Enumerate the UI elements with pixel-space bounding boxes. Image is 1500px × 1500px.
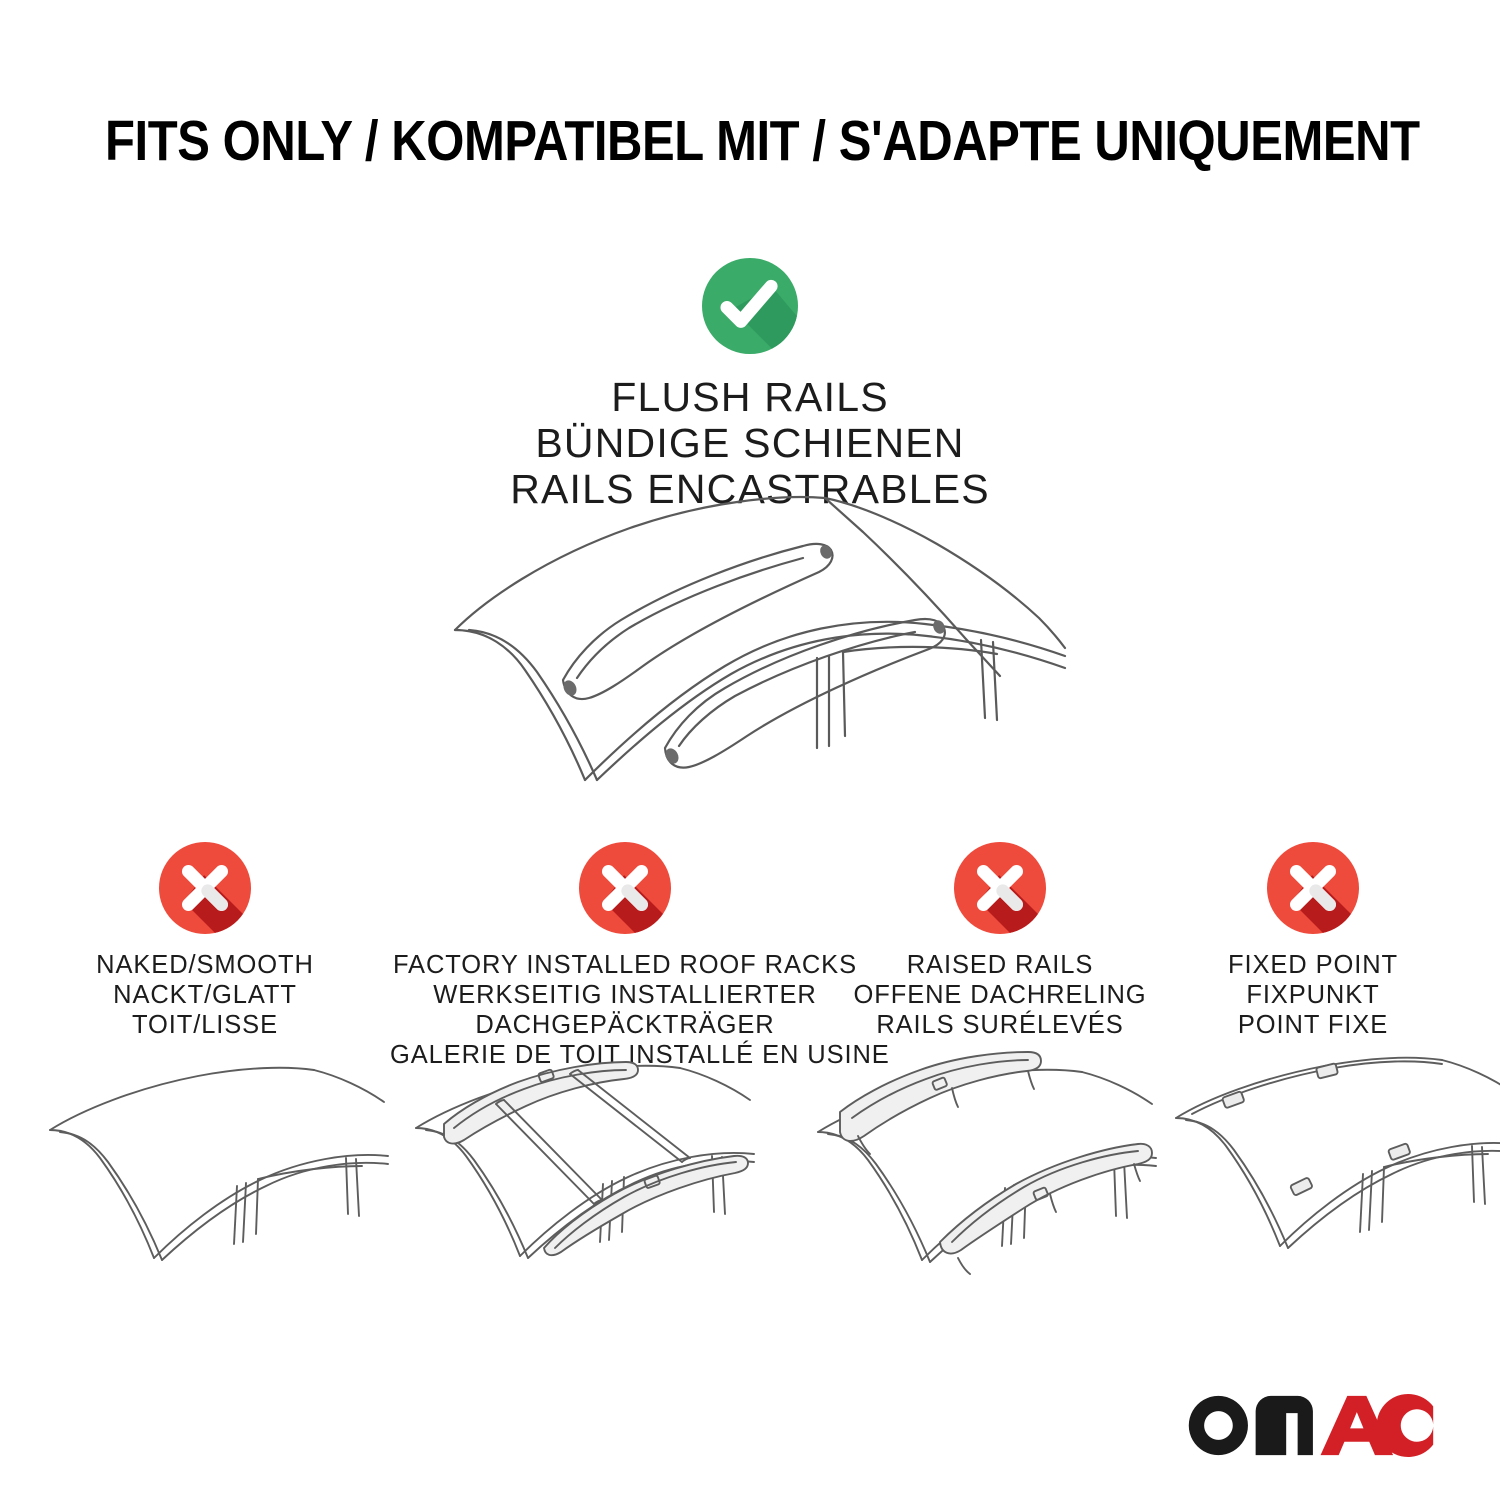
compatible-section: FLUSH RAILS BÜNDIGE SCHIENEN RAILS ENCAS… bbox=[0, 258, 1500, 513]
label-de: OFFENE DACHRELING bbox=[838, 980, 1162, 1010]
incompatible-section: NAKED/SMOOTH NACKT/GLATT TOIT/LISSE bbox=[0, 842, 1500, 1072]
label-de: NACKT/GLATT bbox=[35, 980, 375, 1010]
car-roof-naked-smooth-illustration bbox=[32, 1052, 404, 1342]
label-de: FIXPUNKT bbox=[1172, 980, 1454, 1010]
check-circle-icon bbox=[702, 258, 798, 354]
compatible-label-de: BÜNDIGE SCHIENEN bbox=[0, 421, 1500, 467]
compatible-label-en: FLUSH RAILS bbox=[0, 375, 1500, 421]
car-roof-raised-rails-illustration bbox=[800, 1052, 1172, 1342]
incompatible-label: FIXED POINT FIXPUNKT POINT FIXE bbox=[1172, 950, 1454, 1040]
page-title: FITS ONLY / KOMPATIBEL MIT / S'ADAPTE UN… bbox=[105, 108, 1395, 174]
x-circle-icon bbox=[159, 842, 251, 934]
incompatible-item-raised-rails: RAISED RAILS OFFENE DACHRELING RAILS SUR… bbox=[838, 842, 1162, 1040]
car-roof-fixed-point-illustration bbox=[1162, 1052, 1500, 1342]
label-de: WERKSEITIG INSTALLIERTER bbox=[390, 980, 860, 1010]
x-circle-icon bbox=[579, 842, 671, 934]
label-en: FACTORY INSTALLED ROOF RACKS bbox=[390, 950, 860, 980]
incompatible-item-naked-smooth: NAKED/SMOOTH NACKT/GLATT TOIT/LISSE bbox=[35, 842, 375, 1040]
logo-letter-o bbox=[1189, 1395, 1248, 1454]
incompatible-item-fixed-point: FIXED POINT FIXPUNKT POINT FIXE bbox=[1172, 842, 1454, 1040]
label-fr: POINT FIXE bbox=[1172, 1010, 1454, 1040]
car-roof-flush-rails-illustration bbox=[425, 480, 1085, 790]
logo-letter-m bbox=[1256, 1395, 1313, 1454]
x-circle-icon bbox=[1267, 842, 1359, 934]
omac-logo bbox=[1186, 1394, 1436, 1456]
label-en: NAKED/SMOOTH bbox=[35, 950, 375, 980]
incompatible-illustrations-row bbox=[0, 1052, 1500, 1342]
x-circle-icon bbox=[954, 842, 1046, 934]
car-roof-factory-roof-racks-illustration bbox=[398, 1052, 770, 1342]
label-en: RAISED RAILS bbox=[838, 950, 1162, 980]
label-en: FIXED POINT bbox=[1172, 950, 1454, 980]
incompatible-label: NAKED/SMOOTH NACKT/GLATT TOIT/LISSE bbox=[35, 950, 375, 1040]
label-fr: TOIT/LISSE bbox=[35, 1010, 375, 1040]
label-fr: RAILS SURÉLEVÉS bbox=[838, 1010, 1162, 1040]
label-de2: DACHGEPÄCKTRÄGER bbox=[390, 1010, 860, 1040]
incompatible-item-factory-roof-racks: FACTORY INSTALLED ROOF RACKS WERKSEITIG … bbox=[390, 842, 860, 1070]
incompatible-label: RAISED RAILS OFFENE DACHRELING RAILS SUR… bbox=[838, 950, 1162, 1040]
